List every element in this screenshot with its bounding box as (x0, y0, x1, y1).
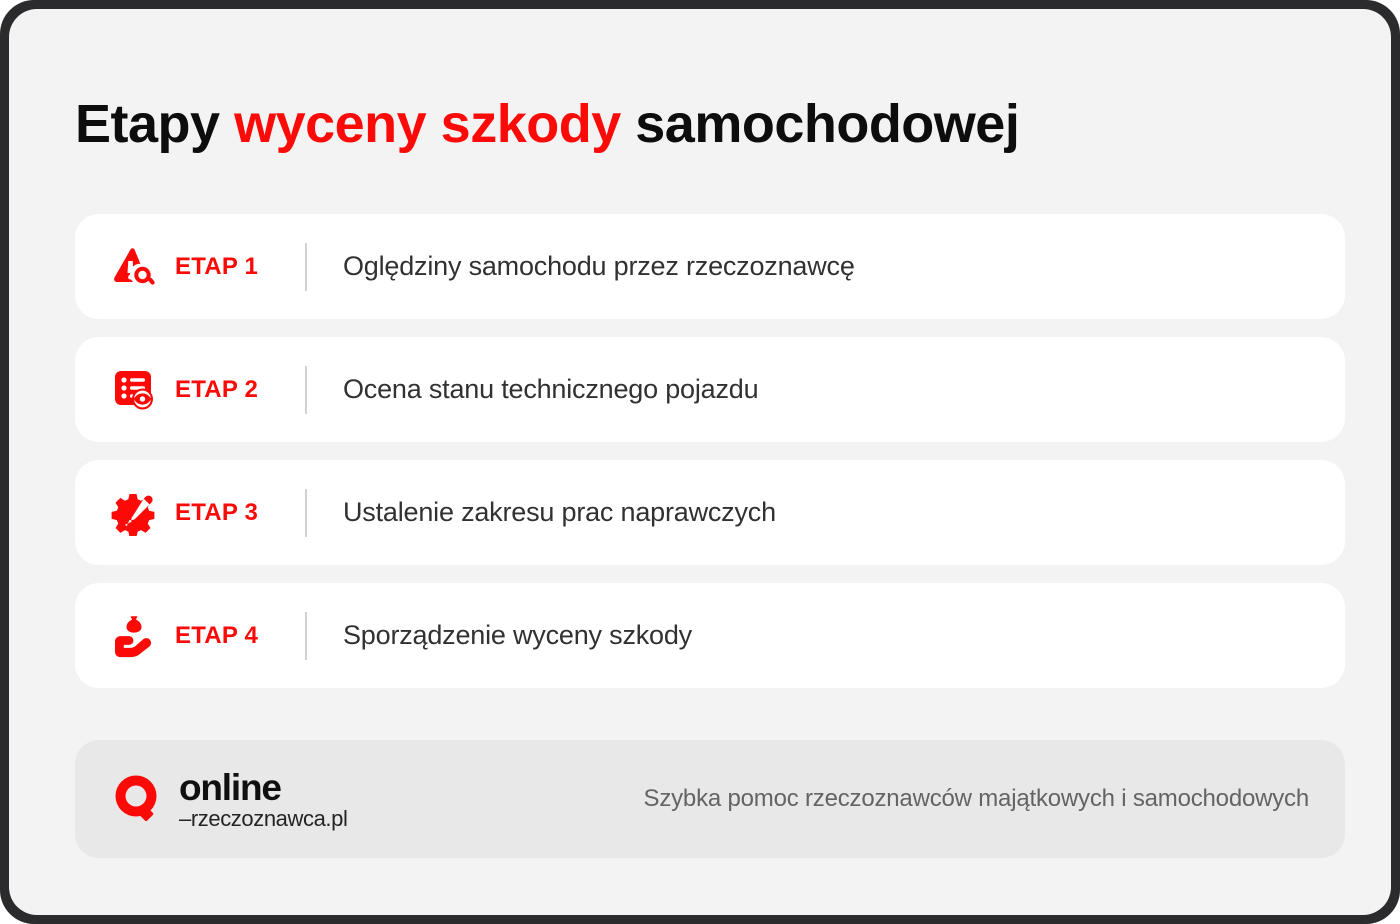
step-text-2: Ocena stanu technicznego pojazdu (343, 374, 758, 405)
step-divider (305, 366, 307, 414)
step-card-2[interactable]: ETAP 2 Ocena stanu technicznego pojazdu (75, 337, 1345, 442)
step-text-1: Oględziny samochodu przez rzeczoznawcę (343, 251, 855, 282)
brand-logo[interactable]: online –rzeczoznawca.pl (111, 769, 347, 830)
step-text-3: Ustalenie zakresu prac naprawczych (343, 497, 776, 528)
checklist-eye-icon (111, 367, 157, 413)
step-card-3[interactable]: ETAP 3 Ustalenie zakresu prac naprawczyc… (75, 460, 1345, 565)
step-divider (305, 243, 307, 291)
footer-bar: online –rzeczoznawca.pl Szybka pomoc rze… (75, 740, 1345, 858)
title-part-2: samochodowej (621, 94, 1020, 154)
step-divider (305, 489, 307, 537)
q-ring-logo-icon (111, 771, 167, 827)
step-label-1: ETAP 1 (175, 253, 281, 281)
step-divider (305, 612, 307, 660)
brand-name-primary: online (179, 769, 347, 806)
brand-logo-text: online –rzeczoznawca.pl (179, 769, 347, 830)
step-text-4: Sporządzenie wyceny szkody (343, 620, 692, 651)
infographic-panel: Etapy wyceny szkody samochodowej ETAP 1 (9, 9, 1391, 915)
step-label-2: ETAP 2 (175, 376, 281, 404)
brand-name-secondary: –rzeczoznawca.pl (179, 808, 347, 830)
warning-triangle-magnifier-icon (111, 244, 157, 290)
title-part-1: Etapy (75, 94, 234, 154)
hand-money-bag-icon (111, 613, 157, 659)
title-accent: wyceny szkody (234, 94, 621, 154)
step-label-3: ETAP 3 (175, 499, 281, 527)
steps-list: ETAP 1 Oględziny samochodu przez rzeczoz… (75, 214, 1345, 706)
page-title: Etapy wyceny szkody samochodowej (75, 93, 1019, 155)
footer-tagline: Szybka pomoc rzeczoznawców majątkowych i… (644, 785, 1309, 813)
outer-frame: Etapy wyceny szkody samochodowej ETAP 1 (0, 0, 1400, 924)
step-card-1[interactable]: ETAP 1 Oględziny samochodu przez rzeczoz… (75, 214, 1345, 319)
step-card-4[interactable]: ETAP 4 Sporządzenie wyceny szkody (75, 583, 1345, 688)
gear-pen-icon (111, 490, 157, 536)
step-label-4: ETAP 4 (175, 622, 281, 650)
